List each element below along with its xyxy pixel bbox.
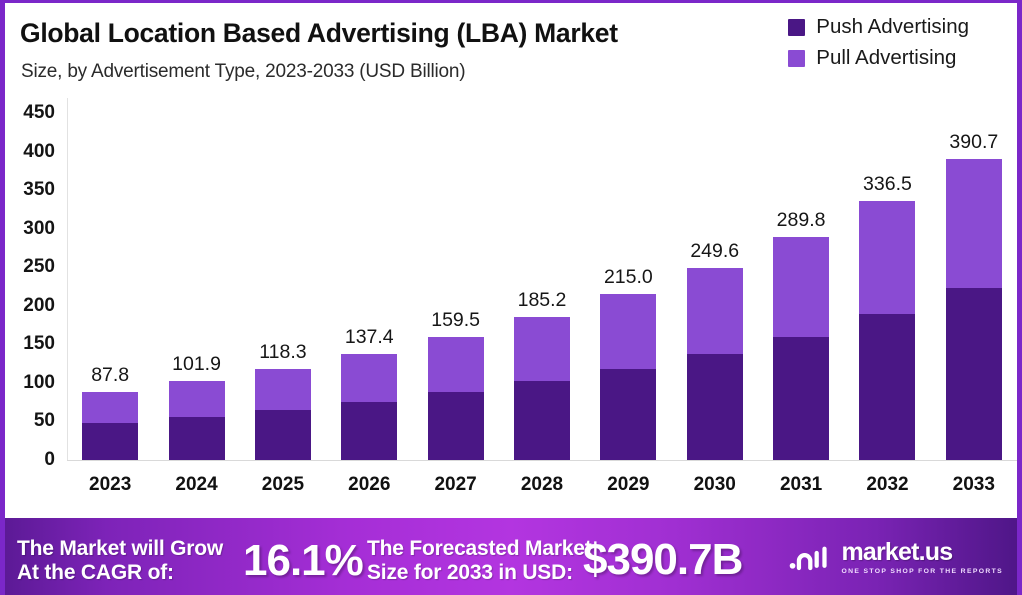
legend-swatch-icon bbox=[788, 50, 805, 67]
y-axis-tick-label: 200 bbox=[23, 295, 55, 317]
forecast-value: $390.7B bbox=[583, 535, 742, 585]
page-title: Global Location Based Advertising (LBA) … bbox=[20, 18, 618, 49]
chart-subtitle: Size, by Advertisement Type, 2023-2033 (… bbox=[21, 61, 465, 83]
bar-value-label: 249.6 bbox=[690, 240, 739, 263]
bar-segment-push[interactable] bbox=[600, 369, 656, 460]
legend-item-label: Push Advertising bbox=[816, 15, 969, 39]
y-axis-tick-label: 0 bbox=[44, 449, 55, 471]
signal-bars-logo-icon bbox=[789, 541, 833, 575]
bar-group-2027[interactable] bbox=[428, 337, 484, 460]
x-axis-tick-label: 2031 bbox=[780, 474, 822, 496]
bar-segment-pull[interactable] bbox=[428, 337, 484, 392]
x-axis-tick-label: 2032 bbox=[866, 474, 908, 496]
bar-value-label: 289.8 bbox=[777, 209, 826, 232]
bar-segment-push[interactable] bbox=[514, 381, 570, 460]
x-axis-tick-label: 2030 bbox=[694, 474, 736, 496]
legend-item-1[interactable]: Push Advertising bbox=[788, 15, 969, 39]
bar-segment-push[interactable] bbox=[341, 402, 397, 460]
y-axis: 050100150200250300350400450 bbox=[5, 98, 67, 518]
bar-segment-pull[interactable] bbox=[82, 392, 138, 422]
bar-segment-push[interactable] bbox=[946, 288, 1002, 460]
legend-item-label: Pull Advertising bbox=[816, 46, 956, 70]
x-axis-line bbox=[67, 460, 1017, 461]
bar-value-label: 215.0 bbox=[604, 266, 653, 289]
bar-segment-pull[interactable] bbox=[169, 381, 225, 416]
x-axis-tick-label: 2025 bbox=[262, 474, 304, 496]
bar-group-2031[interactable] bbox=[773, 237, 829, 460]
bar-value-label: 87.8 bbox=[91, 364, 129, 387]
bar-segment-pull[interactable] bbox=[773, 237, 829, 338]
bar-group-2033[interactable] bbox=[946, 159, 1002, 460]
legend-swatch-icon bbox=[788, 19, 805, 36]
logo-name: market.us bbox=[841, 540, 1003, 565]
forecast-label: The Forecasted MarketSize for 2033 in US… bbox=[367, 537, 592, 584]
bar-series-container: 87.8101.9118.3137.4159.5185.2215.0249.62… bbox=[67, 98, 1017, 460]
cagr-label: The Market will GrowAt the CAGR of: bbox=[17, 537, 223, 584]
chart-plot-area: 050100150200250300350400450 87.8101.9118… bbox=[5, 98, 1022, 518]
x-axis: 2023202420252026202720282029203020312032… bbox=[67, 466, 1017, 508]
bar-segment-pull[interactable] bbox=[946, 159, 1002, 289]
bar-segment-push[interactable] bbox=[169, 417, 225, 460]
market-chart-poster: Global Location Based Advertising (LBA) … bbox=[0, 0, 1022, 595]
bar-segment-push[interactable] bbox=[255, 410, 311, 460]
x-axis-tick-label: 2027 bbox=[434, 474, 476, 496]
summary-footer: The Market will GrowAt the CAGR of: 16.1… bbox=[5, 518, 1017, 595]
bar-segment-pull[interactable] bbox=[255, 369, 311, 410]
cagr-value: 16.1% bbox=[243, 536, 363, 586]
x-axis-tick-label: 2023 bbox=[89, 474, 131, 496]
bar-segment-push[interactable] bbox=[773, 337, 829, 460]
bar-segment-push[interactable] bbox=[428, 392, 484, 460]
bar-group-2032[interactable] bbox=[859, 201, 915, 460]
bar-segment-push[interactable] bbox=[82, 423, 138, 460]
y-axis-tick-label: 400 bbox=[23, 141, 55, 163]
bar-value-label: 185.2 bbox=[518, 289, 567, 312]
bar-value-label: 390.7 bbox=[949, 131, 998, 154]
y-axis-tick-label: 50 bbox=[34, 410, 55, 432]
x-axis-tick-label: 2029 bbox=[607, 474, 649, 496]
bar-value-label: 101.9 bbox=[172, 353, 221, 376]
bar-segment-pull[interactable] bbox=[514, 317, 570, 381]
bar-value-label: 159.5 bbox=[431, 309, 480, 332]
bar-segment-pull[interactable] bbox=[341, 354, 397, 402]
x-axis-tick-label: 2026 bbox=[348, 474, 390, 496]
y-axis-tick-label: 350 bbox=[23, 179, 55, 201]
y-axis-tick-label: 450 bbox=[23, 102, 55, 124]
bar-group-2025[interactable] bbox=[255, 369, 311, 460]
bar-group-2026[interactable] bbox=[341, 354, 397, 460]
bar-value-label: 336.5 bbox=[863, 173, 912, 196]
bar-value-label: 118.3 bbox=[259, 341, 306, 364]
market-us-logo[interactable]: market.us ONE STOP SHOP FOR THE REPORTS bbox=[789, 540, 1003, 575]
y-axis-tick-label: 100 bbox=[23, 372, 55, 394]
chart-header: Global Location Based Advertising (LBA) … bbox=[5, 3, 1022, 98]
bar-segment-pull[interactable] bbox=[600, 294, 656, 369]
bar-segment-push[interactable] bbox=[687, 354, 743, 460]
bar-group-2028[interactable] bbox=[514, 317, 570, 460]
x-axis-tick-label: 2028 bbox=[521, 474, 563, 496]
bar-segment-pull[interactable] bbox=[687, 268, 743, 355]
y-axis-tick-label: 300 bbox=[23, 218, 55, 240]
y-axis-tick-label: 250 bbox=[23, 256, 55, 278]
bar-segment-push[interactable] bbox=[859, 314, 915, 461]
bar-value-label: 137.4 bbox=[345, 326, 394, 349]
x-axis-tick-label: 2024 bbox=[175, 474, 217, 496]
y-axis-tick-label: 150 bbox=[23, 333, 55, 355]
bar-group-2024[interactable] bbox=[169, 381, 225, 460]
bar-group-2023[interactable] bbox=[82, 392, 138, 460]
legend-item-2[interactable]: Pull Advertising bbox=[788, 46, 969, 70]
logo-tagline: ONE STOP SHOP FOR THE REPORTS bbox=[841, 568, 1003, 575]
bar-group-2030[interactable] bbox=[687, 268, 743, 460]
chart-legend: Push AdvertisingPull Advertising bbox=[788, 15, 969, 77]
bar-segment-pull[interactable] bbox=[859, 201, 915, 314]
x-axis-tick-label: 2033 bbox=[953, 474, 995, 496]
bar-group-2029[interactable] bbox=[600, 294, 656, 460]
